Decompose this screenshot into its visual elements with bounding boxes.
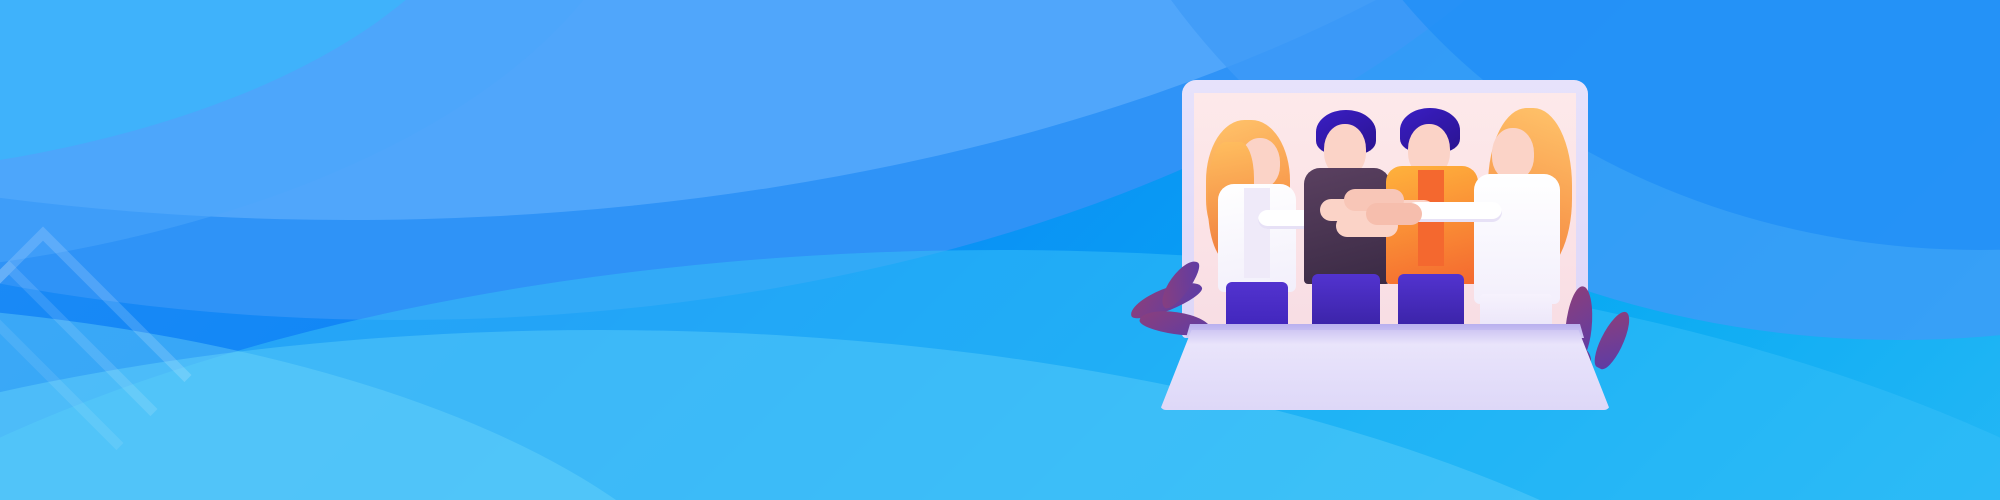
sparkle-decorations bbox=[0, 0, 2000, 500]
banner-text-block bbox=[318, 128, 1018, 158]
laptop-keyboard-base bbox=[1160, 330, 1610, 410]
laptop-screen-bezel bbox=[1182, 80, 1588, 338]
laptop-screen-content bbox=[1194, 93, 1576, 338]
joined-hands-cluster bbox=[1314, 189, 1440, 253]
person-4-head bbox=[1492, 128, 1534, 180]
laptop-keyboard bbox=[1160, 330, 1610, 410]
person-4-shirt bbox=[1474, 174, 1560, 304]
person-1-inner-top bbox=[1244, 188, 1270, 278]
promotional-banner bbox=[0, 0, 2000, 500]
laptop-team-illustration bbox=[1160, 80, 1610, 410]
person-4-woman-white-shirt bbox=[1466, 98, 1576, 338]
